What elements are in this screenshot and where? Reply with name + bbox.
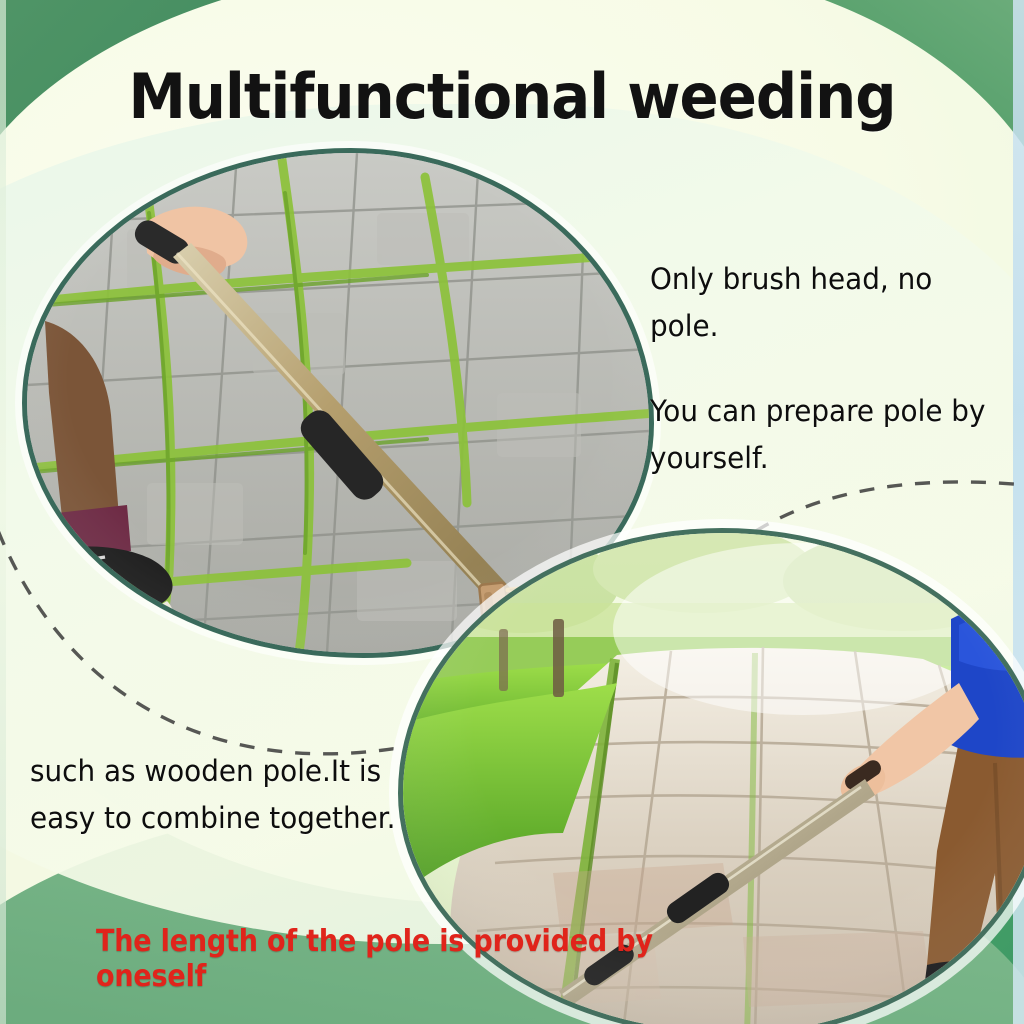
footnote-pole-length: The length of the pole is provided by on…	[96, 924, 726, 994]
left-edge-strip	[0, 0, 6, 1024]
page-title: Multifunctional weeding	[36, 60, 988, 133]
callout-prepare-pole-yourself: You can prepare pole by yourself.	[650, 388, 1007, 482]
callout-wooden-pole-combine: such as wooden pole.It is easy to combin…	[30, 748, 414, 842]
product-poster: Multifunctional weeding	[0, 0, 1024, 1024]
callout-only-brush-head: Only brush head, no pole.	[650, 256, 1005, 350]
